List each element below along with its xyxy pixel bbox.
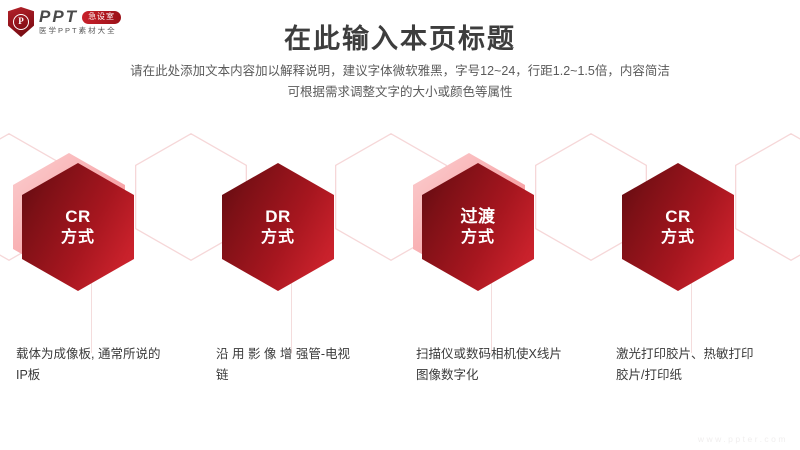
subtitle-line-1: 请在此处添加文本内容加以解释说明，建议字体微软雅黑，字号12~24，行距1.2~… bbox=[0, 61, 800, 82]
step-label-primary: CR bbox=[665, 206, 691, 227]
step-label-secondary: 方式 bbox=[661, 227, 695, 248]
step-hexagon-4[interactable]: CR 方式 bbox=[622, 163, 734, 291]
step-description-4: 激光打印胶片、热敏打印胶片/打印纸 bbox=[616, 344, 762, 386]
step-hexagon-3[interactable]: 过渡 方式 bbox=[422, 163, 534, 291]
step-description-2: 沿 用 影 像 增 强管-电视链 bbox=[216, 344, 362, 386]
step-label-primary: DR bbox=[265, 206, 291, 227]
subtitle-line-2: 可根据需求调整文字的大小或颜色等属性 bbox=[0, 82, 800, 103]
hexagon-face: DR 方式 bbox=[222, 163, 334, 291]
hexagon-face: CR 方式 bbox=[622, 163, 734, 291]
page-subtitle: 请在此处添加文本内容加以解释说明，建议字体微软雅黑，字号12~24，行距1.2~… bbox=[0, 61, 800, 103]
hexagon-diagram: CR 方式 DR 方式 过渡 方式 CR 方式 bbox=[0, 125, 800, 320]
page-title: 在此输入本页标题 bbox=[0, 17, 800, 56]
slide-canvas: P PPT 急设室 医学PPT素材大全 在此输入本页标题 请在此处添加文本内容加… bbox=[0, 0, 800, 450]
step-hexagon-2[interactable]: DR 方式 bbox=[222, 163, 334, 291]
step-description-3: 扫描仪或数码相机使X线片图像数字化 bbox=[416, 344, 562, 386]
step-description-1: 载体为成像板, 通常所说的IP板 bbox=[16, 344, 162, 386]
step-label-primary: 过渡 bbox=[461, 206, 496, 227]
step-label-secondary: 方式 bbox=[261, 227, 295, 248]
site-watermark: www.ppter.com bbox=[698, 434, 788, 444]
step-hexagon-1[interactable]: CR 方式 bbox=[22, 163, 134, 291]
decorative-hexagon-outline bbox=[735, 133, 800, 261]
step-label-primary: CR bbox=[65, 206, 91, 227]
step-label-secondary: 方式 bbox=[461, 227, 495, 248]
step-label-secondary: 方式 bbox=[61, 227, 95, 248]
